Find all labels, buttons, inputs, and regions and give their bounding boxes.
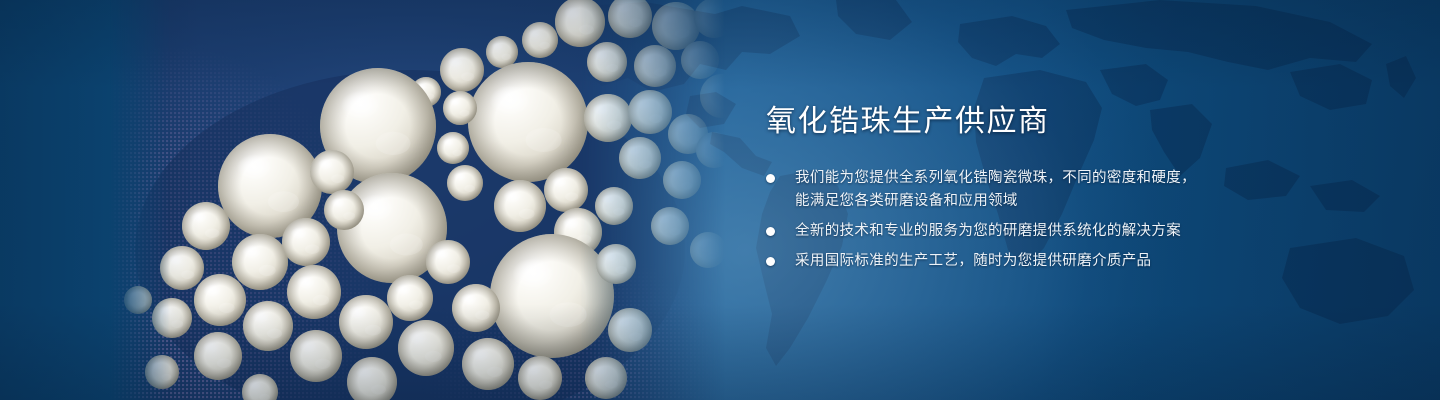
- feature-list-item: 采用国际标准的生产工艺，随时为您提供研磨介质产品: [766, 250, 1236, 273]
- bullet-dot-icon: [766, 174, 775, 183]
- feature-list: 我们能为您提供全系列氧化锆陶瓷微珠，不同的密度和硬度， 能满足您各类研磨设备和应…: [766, 167, 1236, 273]
- feature-text-line: 能满足您各类研磨设备和应用领域: [795, 190, 1236, 213]
- feature-list-item: 我们能为您提供全系列氧化锆陶瓷微珠，不同的密度和硬度， 能满足您各类研磨设备和应…: [766, 167, 1236, 213]
- hero-banner: 氧化锆珠生产供应商 我们能为您提供全系列氧化锆陶瓷微珠，不同的密度和硬度， 能满…: [0, 0, 1440, 400]
- feature-text-line: 采用国际标准的生产工艺，随时为您提供研磨介质产品: [795, 250, 1236, 273]
- bullet-dot-icon: [766, 227, 775, 236]
- bullet-dot-icon: [766, 257, 775, 266]
- feature-text-line: 全新的技术和专业的服务为您的研磨提供系统化的解决方案: [795, 220, 1236, 243]
- feature-list-item: 全新的技术和专业的服务为您的研磨提供系统化的解决方案: [766, 220, 1236, 243]
- banner-copy: 氧化锆珠生产供应商 我们能为您提供全系列氧化锆陶瓷微珠，不同的密度和硬度， 能满…: [766, 104, 1236, 273]
- feature-text-line: 我们能为您提供全系列氧化锆陶瓷微珠，不同的密度和硬度，: [795, 167, 1236, 190]
- banner-headline: 氧化锆珠生产供应商: [766, 104, 1236, 139]
